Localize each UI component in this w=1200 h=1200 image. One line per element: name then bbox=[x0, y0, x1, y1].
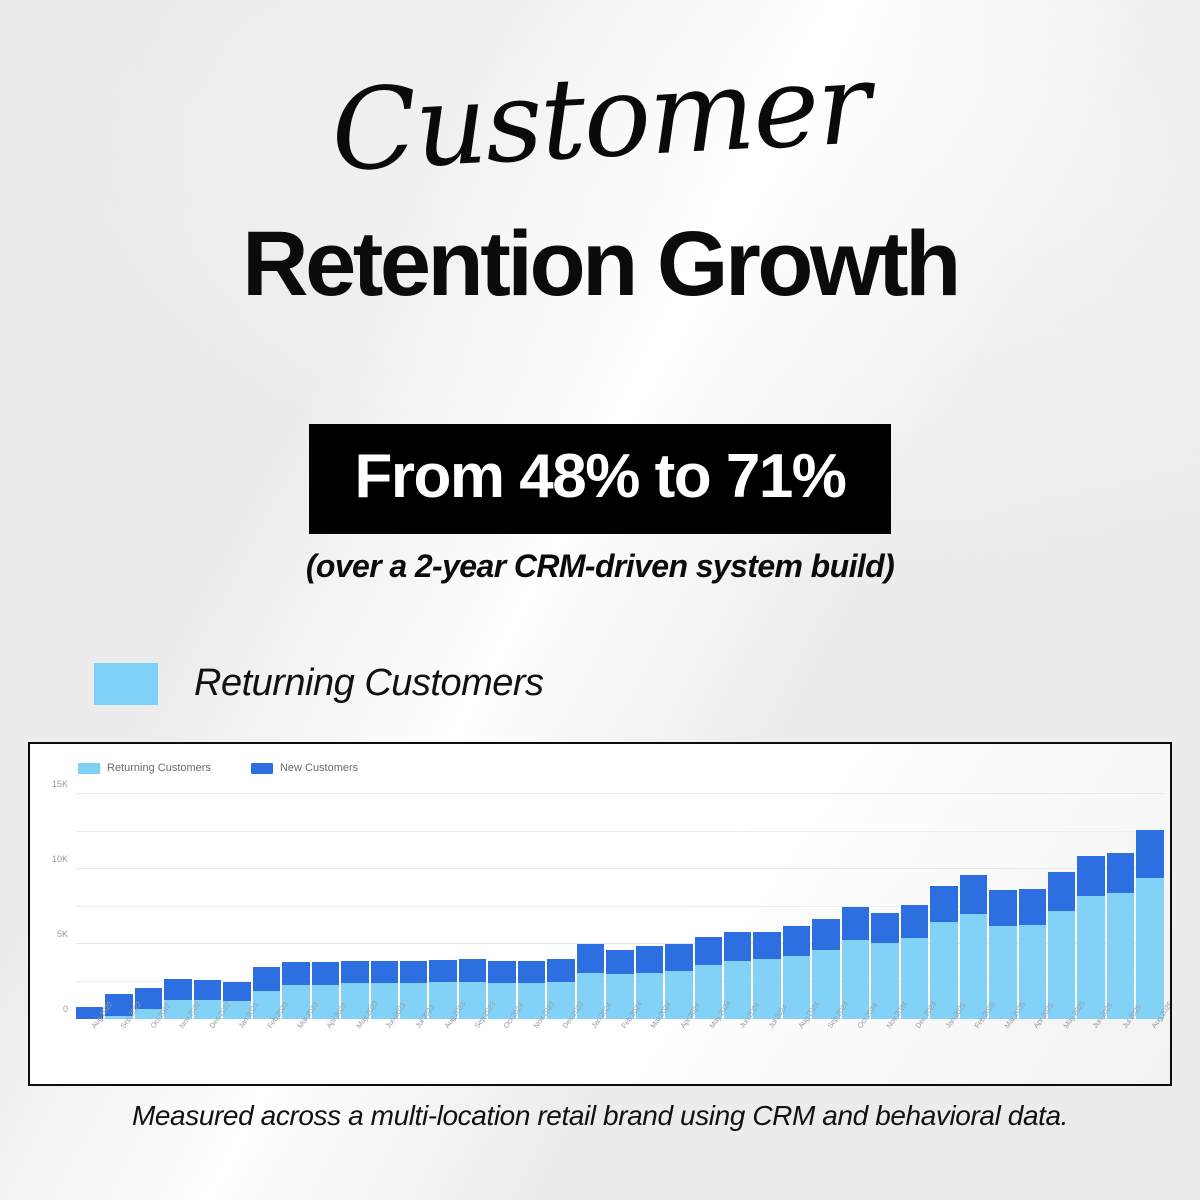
bar-column[interactable] bbox=[135, 794, 162, 1019]
bar-segment-new bbox=[282, 962, 309, 985]
bar-column[interactable] bbox=[400, 794, 427, 1019]
bar-segment-new bbox=[312, 962, 339, 985]
bar-column[interactable] bbox=[989, 794, 1016, 1019]
poster-root: Customer Retention Growth From 48% to 71… bbox=[0, 0, 1200, 1200]
bar-segment-new bbox=[253, 967, 280, 991]
bar-column[interactable] bbox=[341, 794, 368, 1019]
x-axis-label-slot: Mar 2025 bbox=[989, 1022, 1016, 1082]
bar-column[interactable] bbox=[518, 794, 545, 1019]
bar-segment-new bbox=[636, 946, 663, 973]
x-axis-label-slot: Jul 2025 bbox=[1107, 1022, 1134, 1082]
bar-segment-new bbox=[989, 890, 1016, 926]
bar-column[interactable] bbox=[223, 794, 250, 1019]
bar-segment-new bbox=[164, 979, 191, 1000]
bar-segment-new bbox=[1048, 872, 1075, 911]
bar-segment-new bbox=[577, 944, 604, 973]
y-axis-tick: 10K bbox=[52, 854, 68, 864]
legend-new-label: New Customers bbox=[280, 762, 358, 774]
bar-segment-new bbox=[194, 980, 221, 1000]
stat-badge: From 48% to 71% bbox=[309, 424, 892, 534]
bar-column[interactable] bbox=[665, 794, 692, 1019]
x-axis-label-slot: May 2023 bbox=[341, 1022, 368, 1082]
x-axis-label-slot: Jan 2025 bbox=[930, 1022, 957, 1082]
x-axis-label-slot: Jun 2025 bbox=[1077, 1022, 1104, 1082]
chart-x-axis-labels: Aug 2022Sep 2022Oct 2022Nov 2022Dec 2022… bbox=[76, 1022, 1164, 1082]
x-axis-label-slot: Nov 2024 bbox=[871, 1022, 898, 1082]
bar-segment-new bbox=[547, 959, 574, 982]
bar-segment-new bbox=[459, 959, 486, 982]
bar-column[interactable] bbox=[1107, 794, 1134, 1019]
x-axis-label-slot: Nov 2023 bbox=[518, 1022, 545, 1082]
x-axis-label-slot: Oct 2024 bbox=[842, 1022, 869, 1082]
bar-segment-new bbox=[1136, 830, 1163, 878]
bar-column[interactable] bbox=[577, 794, 604, 1019]
bar-segment-new bbox=[606, 950, 633, 974]
primary-legend-label: Returning Customers bbox=[194, 662, 544, 705]
bar-column[interactable] bbox=[960, 794, 987, 1019]
bar-column[interactable] bbox=[459, 794, 486, 1019]
primary-legend: Returning Customers bbox=[94, 662, 544, 705]
bar-segment-new bbox=[223, 982, 250, 1002]
x-axis-label-slot: Sep 2022 bbox=[105, 1022, 132, 1082]
x-axis-label-slot: May 2024 bbox=[695, 1022, 722, 1082]
bar-segment-returning bbox=[1048, 911, 1075, 1019]
bar-segment-new bbox=[665, 944, 692, 971]
y-axis-tick: 5K bbox=[57, 929, 68, 939]
bar-column[interactable] bbox=[194, 794, 221, 1019]
bar-column[interactable] bbox=[253, 794, 280, 1019]
bar-segment-new bbox=[429, 960, 456, 983]
bar-segment-new bbox=[842, 907, 869, 940]
x-axis-label-slot: May 2025 bbox=[1048, 1022, 1075, 1082]
x-axis-label-slot: Apr 2023 bbox=[312, 1022, 339, 1082]
bar-column[interactable] bbox=[812, 794, 839, 1019]
bar-segment-new bbox=[341, 961, 368, 984]
chart-legend: Returning Customers New Customers bbox=[78, 762, 384, 774]
x-axis-label-slot: Sep 2023 bbox=[459, 1022, 486, 1082]
bar-segment-new bbox=[695, 937, 722, 966]
x-axis-label-slot: Jun 2024 bbox=[724, 1022, 751, 1082]
bar-segment-new bbox=[488, 961, 515, 984]
legend-returning-swatch-icon bbox=[78, 763, 100, 774]
chart-plot-area: 05K10K15K bbox=[76, 794, 1164, 1019]
x-axis-label-slot: Mar 2023 bbox=[282, 1022, 309, 1082]
x-axis-label-slot: Jul 2024 bbox=[753, 1022, 780, 1082]
bar-segment-new bbox=[930, 886, 957, 922]
bar-segment-new bbox=[960, 875, 987, 914]
bar-column[interactable] bbox=[282, 794, 309, 1019]
bar-column[interactable] bbox=[105, 794, 132, 1019]
chart-legend-item-new[interactable]: New Customers bbox=[251, 762, 358, 774]
x-axis-label-slot: Oct 2022 bbox=[135, 1022, 162, 1082]
bar-column[interactable] bbox=[1048, 794, 1075, 1019]
bar-column[interactable] bbox=[371, 794, 398, 1019]
chart-bars bbox=[76, 794, 1164, 1019]
bar-segment-new bbox=[400, 961, 427, 984]
x-axis-label-slot: Nov 2022 bbox=[164, 1022, 191, 1082]
legend-new-swatch-icon bbox=[251, 763, 273, 774]
bar-segment-new bbox=[1019, 889, 1046, 925]
legend-returning-label: Returning Customers bbox=[107, 762, 211, 774]
chart-legend-item-returning[interactable]: Returning Customers bbox=[78, 762, 211, 774]
x-axis-label-slot: Feb 2025 bbox=[960, 1022, 987, 1082]
bar-segment-returning bbox=[1136, 878, 1163, 1019]
x-axis-label-slot: Dec 2023 bbox=[547, 1022, 574, 1082]
bar-segment-new bbox=[1107, 853, 1134, 894]
x-axis-label-slot: Dec 2024 bbox=[901, 1022, 928, 1082]
bar-column[interactable] bbox=[871, 794, 898, 1019]
x-axis-label-slot: Mar 2024 bbox=[636, 1022, 663, 1082]
bar-segment-new bbox=[371, 961, 398, 984]
bar-segment-new bbox=[1077, 856, 1104, 897]
x-axis-label-slot: Jan 2023 bbox=[223, 1022, 250, 1082]
bar-column[interactable] bbox=[488, 794, 515, 1019]
legend-swatch-icon bbox=[94, 663, 158, 705]
x-axis-label-slot: Aug 2024 bbox=[783, 1022, 810, 1082]
bar-segment-returning bbox=[1107, 893, 1134, 1019]
bar-column[interactable] bbox=[1136, 794, 1163, 1019]
x-axis-label-slot: Apr 2024 bbox=[665, 1022, 692, 1082]
badge-container: From 48% to 71% bbox=[0, 424, 1200, 534]
bar-column[interactable] bbox=[1019, 794, 1046, 1019]
bar-column[interactable] bbox=[164, 794, 191, 1019]
bar-column[interactable] bbox=[636, 794, 663, 1019]
x-axis-label-slot: Jan 2024 bbox=[577, 1022, 604, 1082]
page-title: Retention Growth bbox=[0, 218, 1200, 310]
bar-column[interactable] bbox=[930, 794, 957, 1019]
bar-segment-new bbox=[812, 919, 839, 951]
y-axis-tick: 0 bbox=[63, 1004, 68, 1014]
x-axis-label-slot: Sep 2024 bbox=[812, 1022, 839, 1082]
bar-column[interactable] bbox=[783, 794, 810, 1019]
bar-column[interactable] bbox=[695, 794, 722, 1019]
chart-card: Returning Customers New Customers 05K10K… bbox=[28, 742, 1172, 1086]
x-axis-label-slot: Aug 2025 bbox=[1136, 1022, 1163, 1082]
bar-column[interactable] bbox=[1077, 794, 1104, 1019]
x-axis-label-slot: Jul 2023 bbox=[400, 1022, 427, 1082]
script-word-customer: Customer bbox=[0, 31, 1200, 206]
bar-column[interactable] bbox=[76, 794, 103, 1019]
bar-column[interactable] bbox=[606, 794, 633, 1019]
x-axis-label-slot: Aug 2023 bbox=[429, 1022, 456, 1082]
x-axis-label-slot: Dec 2022 bbox=[194, 1022, 221, 1082]
bar-segment-new bbox=[871, 913, 898, 943]
bar-column[interactable] bbox=[901, 794, 928, 1019]
bar-segment-new bbox=[724, 932, 751, 961]
bar-column[interactable] bbox=[842, 794, 869, 1019]
bar-column[interactable] bbox=[429, 794, 456, 1019]
x-axis-label-slot: Apr 2025 bbox=[1019, 1022, 1046, 1082]
x-axis-label-slot: Aug 2022 bbox=[76, 1022, 103, 1082]
bar-segment-new bbox=[901, 905, 928, 938]
x-axis-label-slot: Feb 2024 bbox=[606, 1022, 633, 1082]
subtitle-note: (over a 2-year CRM-driven system build) bbox=[0, 548, 1200, 585]
x-axis-label-slot: Feb 2023 bbox=[253, 1022, 280, 1082]
bar-segment-new bbox=[518, 961, 545, 983]
bar-segment-new bbox=[783, 926, 810, 956]
x-axis-label-slot: Jun 2023 bbox=[371, 1022, 398, 1082]
bar-segment-new bbox=[753, 932, 780, 959]
y-axis-tick: 15K bbox=[52, 779, 68, 789]
chart-caption: Measured across a multi-location retail … bbox=[0, 1100, 1200, 1132]
bar-column[interactable] bbox=[547, 794, 574, 1019]
bar-column[interactable] bbox=[724, 794, 751, 1019]
chart-surface: Returning Customers New Customers 05K10K… bbox=[30, 744, 1170, 1084]
bar-column[interactable] bbox=[753, 794, 780, 1019]
x-axis-label-slot: Oct 2023 bbox=[488, 1022, 515, 1082]
bar-column[interactable] bbox=[312, 794, 339, 1019]
